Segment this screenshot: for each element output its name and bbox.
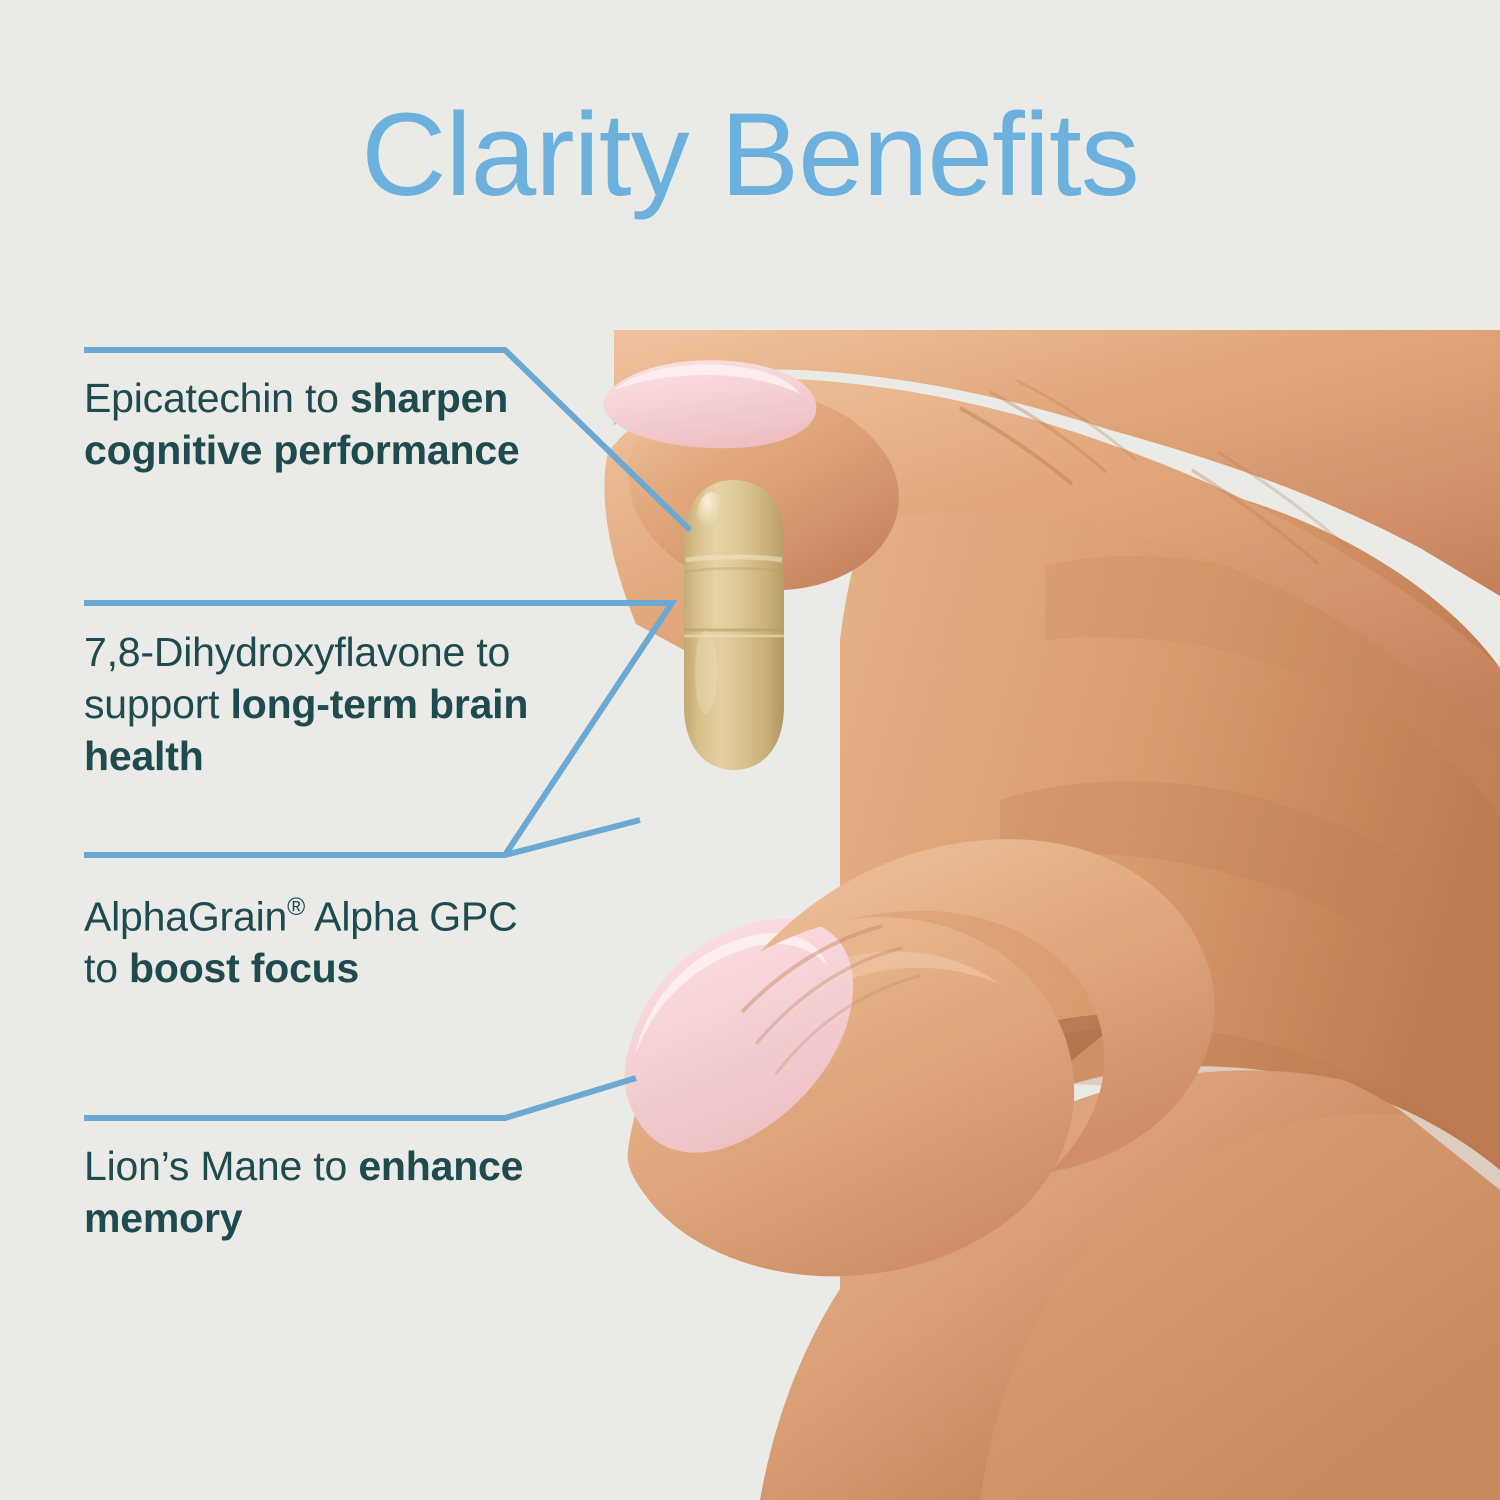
benefit-item-lions-mane: Lion’s Mane to enhance memory <box>84 1140 554 1244</box>
benefit-item-epicatechin: Epicatechin to sharpen cognitive perform… <box>84 372 554 476</box>
registered-trademark-icon: ® <box>287 894 305 921</box>
benefit-lead-text: Lion’s Mane to <box>84 1143 358 1189</box>
product-benefits-graphic: Clarity Benefits <box>0 0 1500 1500</box>
benefit-item-alphagrain-alpha-gpc: AlphaGrain® Alpha GPC to boost focus <box>84 882 554 994</box>
capsule <box>684 480 784 770</box>
benefit-lead-text: AlphaGrain <box>84 893 287 939</box>
benefit-lead-text: Epicatechin to <box>84 375 350 421</box>
benefit-emphasis-text: boost focus <box>129 945 359 991</box>
benefit-item-dihydroxyflavone: 7,8-Dihydroxyflavone to support long-ter… <box>84 626 554 782</box>
